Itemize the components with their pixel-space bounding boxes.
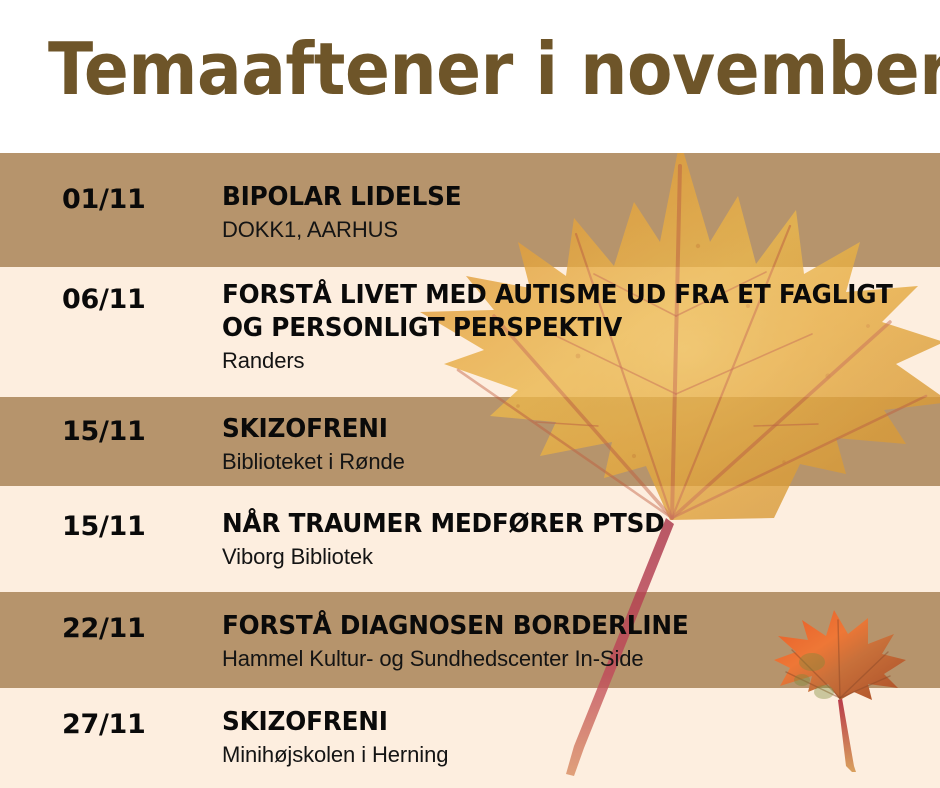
- event-body: NÅR TRAUMER MEDFØRER PTSDViborg Bibliote…: [222, 508, 930, 571]
- event-row: 15/11SKIZOFRENIBiblioteket i Rønde: [0, 397, 940, 486]
- event-date: 22/11: [62, 614, 146, 644]
- event-body: FORSTÅ LIVET MED AUTISME UD FRA ET FAGLI…: [222, 279, 930, 375]
- header-block: Temaaftener i november: [0, 0, 940, 153]
- event-body: SKIZOFRENIBiblioteket i Rønde: [222, 413, 930, 476]
- event-title: SKIZOFRENI: [222, 413, 895, 446]
- event-body: FORSTÅ DIAGNOSEN BORDERLINEHammel Kultur…: [222, 610, 930, 673]
- event-venue: Biblioteket i Rønde: [222, 448, 930, 476]
- event-venue: Hammel Kultur- og Sundhedscenter In-Side: [222, 645, 930, 673]
- event-title: NÅR TRAUMER MEDFØRER PTSD: [222, 508, 895, 541]
- event-venue: Randers: [222, 347, 930, 375]
- event-date: 15/11: [62, 417, 146, 447]
- event-row: 06/11FORSTÅ LIVET MED AUTISME UD FRA ET …: [0, 267, 940, 397]
- event-venue: Minihøjskolen i Herning: [222, 741, 930, 769]
- event-venue: DOKK1, AARHUS: [222, 216, 930, 244]
- event-title: BIPOLAR LIDELSE: [222, 181, 895, 214]
- event-date: 27/11: [62, 710, 146, 740]
- event-row: 15/11NÅR TRAUMER MEDFØRER PTSDViborg Bib…: [0, 486, 940, 592]
- poster-canvas: Temaaftener i november 01/11BIPOLAR LIDE…: [0, 0, 940, 788]
- event-row: 27/11SKIZOFRENIMinihøjskolen i Herning: [0, 688, 940, 788]
- event-date: 01/11: [62, 185, 146, 215]
- event-title: SKIZOFRENI: [222, 706, 895, 739]
- event-title: FORSTÅ LIVET MED AUTISME UD FRA ET FAGLI…: [222, 279, 895, 345]
- event-row: 22/11FORSTÅ DIAGNOSEN BORDERLINEHammel K…: [0, 592, 940, 688]
- event-body: SKIZOFRENIMinihøjskolen i Herning: [222, 706, 930, 769]
- event-date: 15/11: [62, 512, 146, 542]
- event-venue: Viborg Bibliotek: [222, 543, 930, 571]
- event-date: 06/11: [62, 285, 146, 315]
- page-title: Temaaftener i november: [48, 26, 940, 112]
- event-body: BIPOLAR LIDELSEDOKK1, AARHUS: [222, 181, 930, 244]
- event-row: 01/11BIPOLAR LIDELSEDOKK1, AARHUS: [0, 153, 940, 267]
- event-title: FORSTÅ DIAGNOSEN BORDERLINE: [222, 610, 895, 643]
